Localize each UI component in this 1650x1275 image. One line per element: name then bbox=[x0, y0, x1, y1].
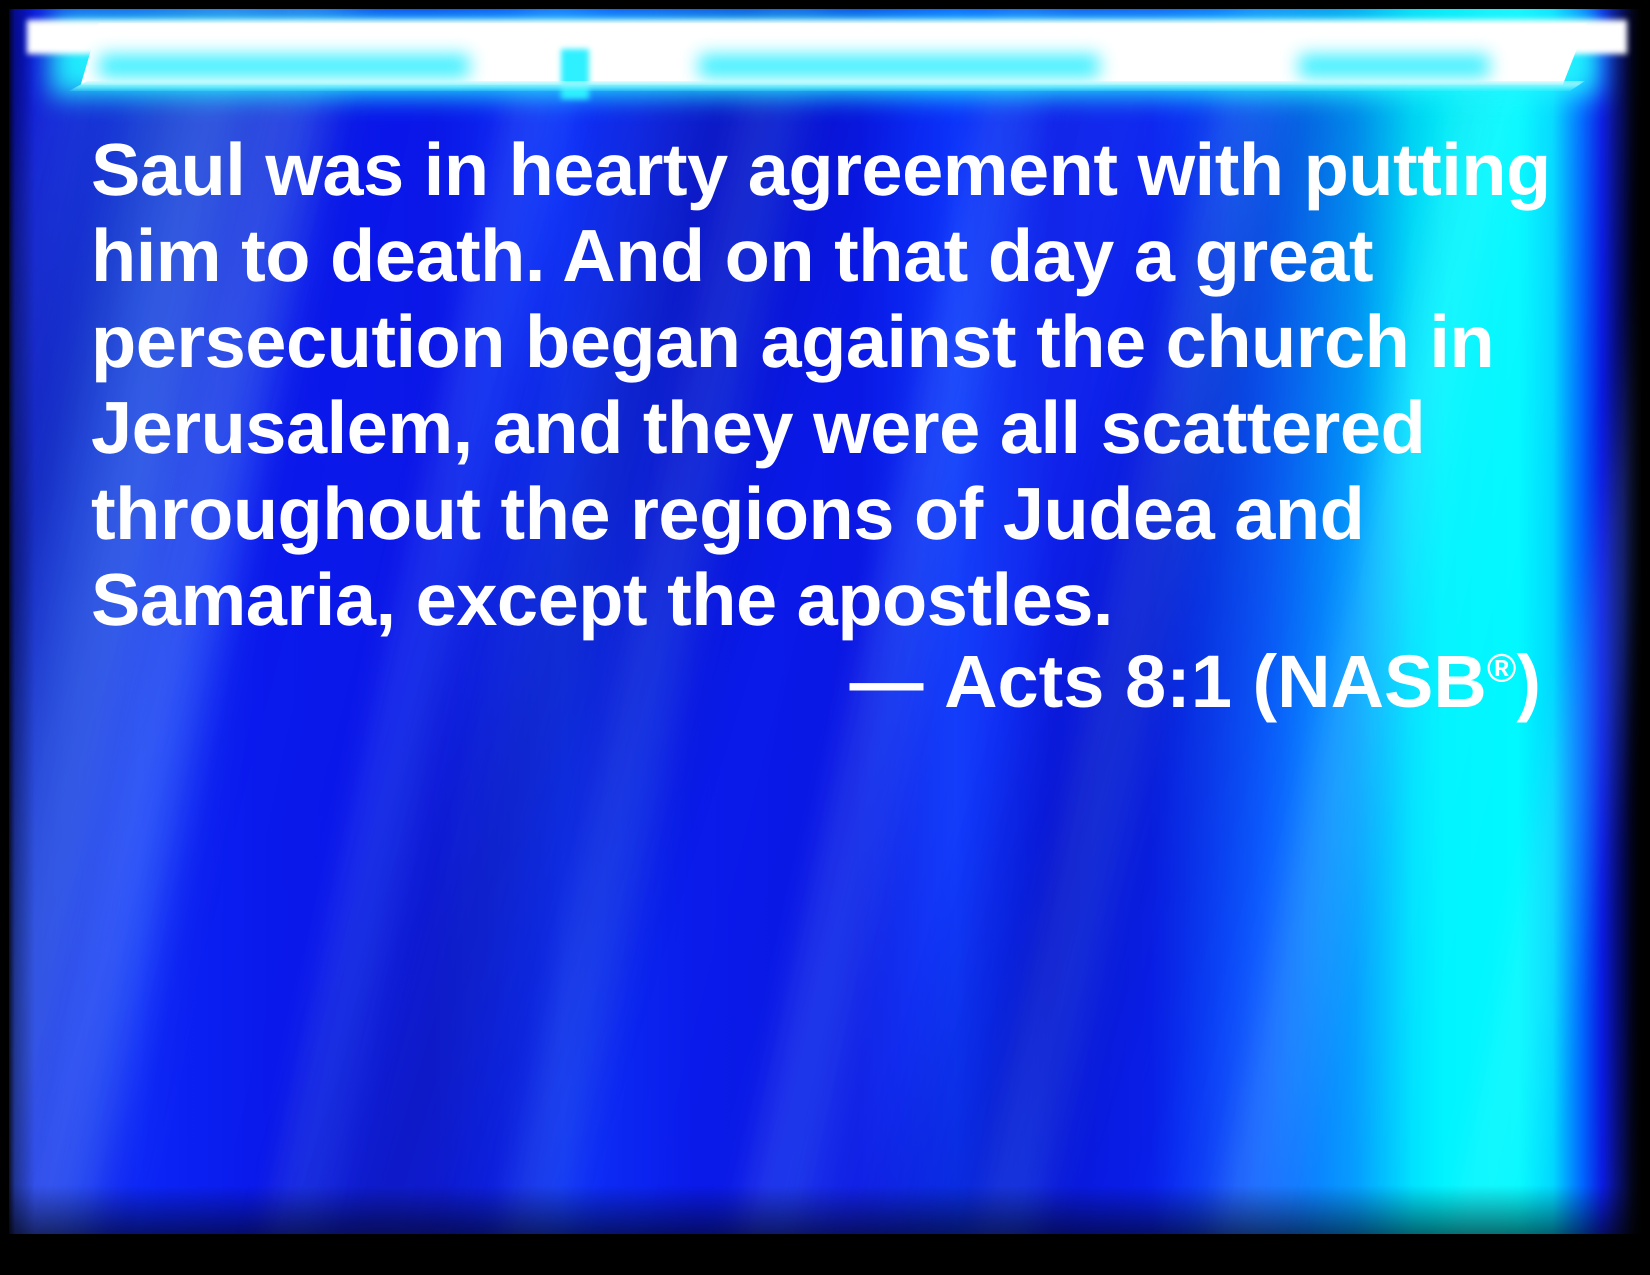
verse-line: Jerusalem, and they were all scattered bbox=[91, 385, 1511, 471]
verse-line: Samaria, except the apostles. bbox=[91, 557, 1511, 643]
slide-canvas: Saul was in hearty agreement with puttin… bbox=[9, 9, 1641, 1234]
banner-center-tick bbox=[561, 49, 589, 99]
banner-white-bar bbox=[27, 20, 1627, 54]
banner-cyan-smudge-left bbox=[99, 55, 469, 77]
attribution-translation-close: ) bbox=[1516, 640, 1541, 723]
banner-bottom-edge bbox=[69, 81, 1585, 91]
attribution-reference: Acts 8:1 bbox=[944, 640, 1232, 723]
attribution-em-dash: — bbox=[850, 640, 924, 723]
verse-text-block: Saul was in hearty agreement with puttin… bbox=[91, 127, 1511, 643]
attribution-translation-open: (NASB bbox=[1253, 640, 1487, 723]
verse-line: throughout the regions of Judea and bbox=[91, 471, 1511, 557]
verse-line: him to death. And on that day a great bbox=[91, 213, 1511, 299]
banner-cyan-smudge-right bbox=[1299, 55, 1489, 77]
scripture-slide: Saul was in hearty agreement with puttin… bbox=[0, 0, 1650, 1275]
top-highlight-banner bbox=[9, 9, 1641, 114]
verse-line: Saul was in hearty agreement with puttin… bbox=[91, 127, 1511, 213]
banner-cyan-smudge-center bbox=[699, 55, 1099, 77]
verse-line: persecution began against the church in bbox=[91, 299, 1511, 385]
registered-trademark-icon: ® bbox=[1487, 646, 1516, 690]
verse-attribution: — Acts 8:1 (NASB®) bbox=[91, 639, 1541, 725]
